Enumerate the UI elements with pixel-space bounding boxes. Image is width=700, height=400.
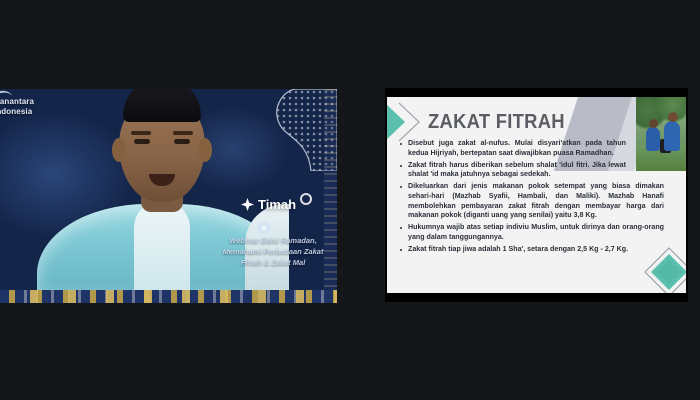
danantara-line2: Indonesia	[0, 107, 34, 117]
slide-bullet: Hukumnya wajib atas setiap indiviu Musli…	[399, 223, 678, 242]
ornament-strip-right	[324, 89, 337, 303]
slide-content: ZAKAT FITRAH Disebut juga zakat al-nufus…	[387, 97, 686, 293]
speaker-brow-left	[131, 131, 151, 135]
teal-diamond-icon	[642, 245, 686, 293]
slide-bullet-list: Disebut juga zakat al-nufus. Mulai disya…	[399, 139, 678, 257]
slide-bullet: Zakat fitrah tiap jiwa adalah 1 Sha', se…	[399, 245, 678, 255]
slide-bullet: Disebut juga zakat al-nufus. Mulai disya…	[399, 139, 678, 158]
timah-ring-icon	[300, 193, 312, 205]
webinar-caption-line3: Fitrah & Zakat Mal	[214, 257, 332, 268]
webinar-video-panel[interactable]: Danantara Indonesia Timah Webinar Edisi …	[0, 89, 337, 303]
slide-bullet: Zakat fitrah harus diberikan sebelum sha…	[399, 161, 678, 180]
webinar-caption-line1: Webinar Edisi Ramadan,	[214, 235, 332, 246]
teal-chevron-icon	[387, 101, 425, 143]
speaker-ear-left	[112, 138, 126, 162]
slide-bullet: Dikeluarkan dari jenis makanan pokok set…	[399, 182, 678, 220]
danantara-logo: Danantara Indonesia	[0, 97, 34, 117]
speaker-brow-right	[173, 131, 193, 135]
timah-diamond-icon	[241, 198, 254, 211]
slide-share-panel[interactable]: ZAKAT FITRAH Disebut juga zakat al-nufus…	[385, 88, 688, 302]
timah-wordmark: Timah	[258, 197, 296, 212]
ornament-strip-bottom	[0, 290, 337, 303]
speaker-ear-right	[198, 138, 212, 162]
speaker-peci-cap	[123, 89, 201, 122]
screenshot-root: Danantara Indonesia Timah Webinar Edisi …	[0, 0, 700, 400]
webinar-caption: Webinar Edisi Ramadan, Memahami Perbedaa…	[214, 235, 332, 268]
slide-top-letterbox	[385, 88, 688, 97]
speaker-eye-left	[134, 139, 150, 144]
speaker-eye-right	[174, 139, 190, 144]
sparkle-decoration-icon	[256, 220, 272, 236]
timah-logo: Timah	[241, 197, 296, 212]
slide-title: ZAKAT FITRAH	[428, 111, 565, 134]
webinar-caption-line2: Memahami Perbedaan Zakat	[214, 246, 332, 257]
